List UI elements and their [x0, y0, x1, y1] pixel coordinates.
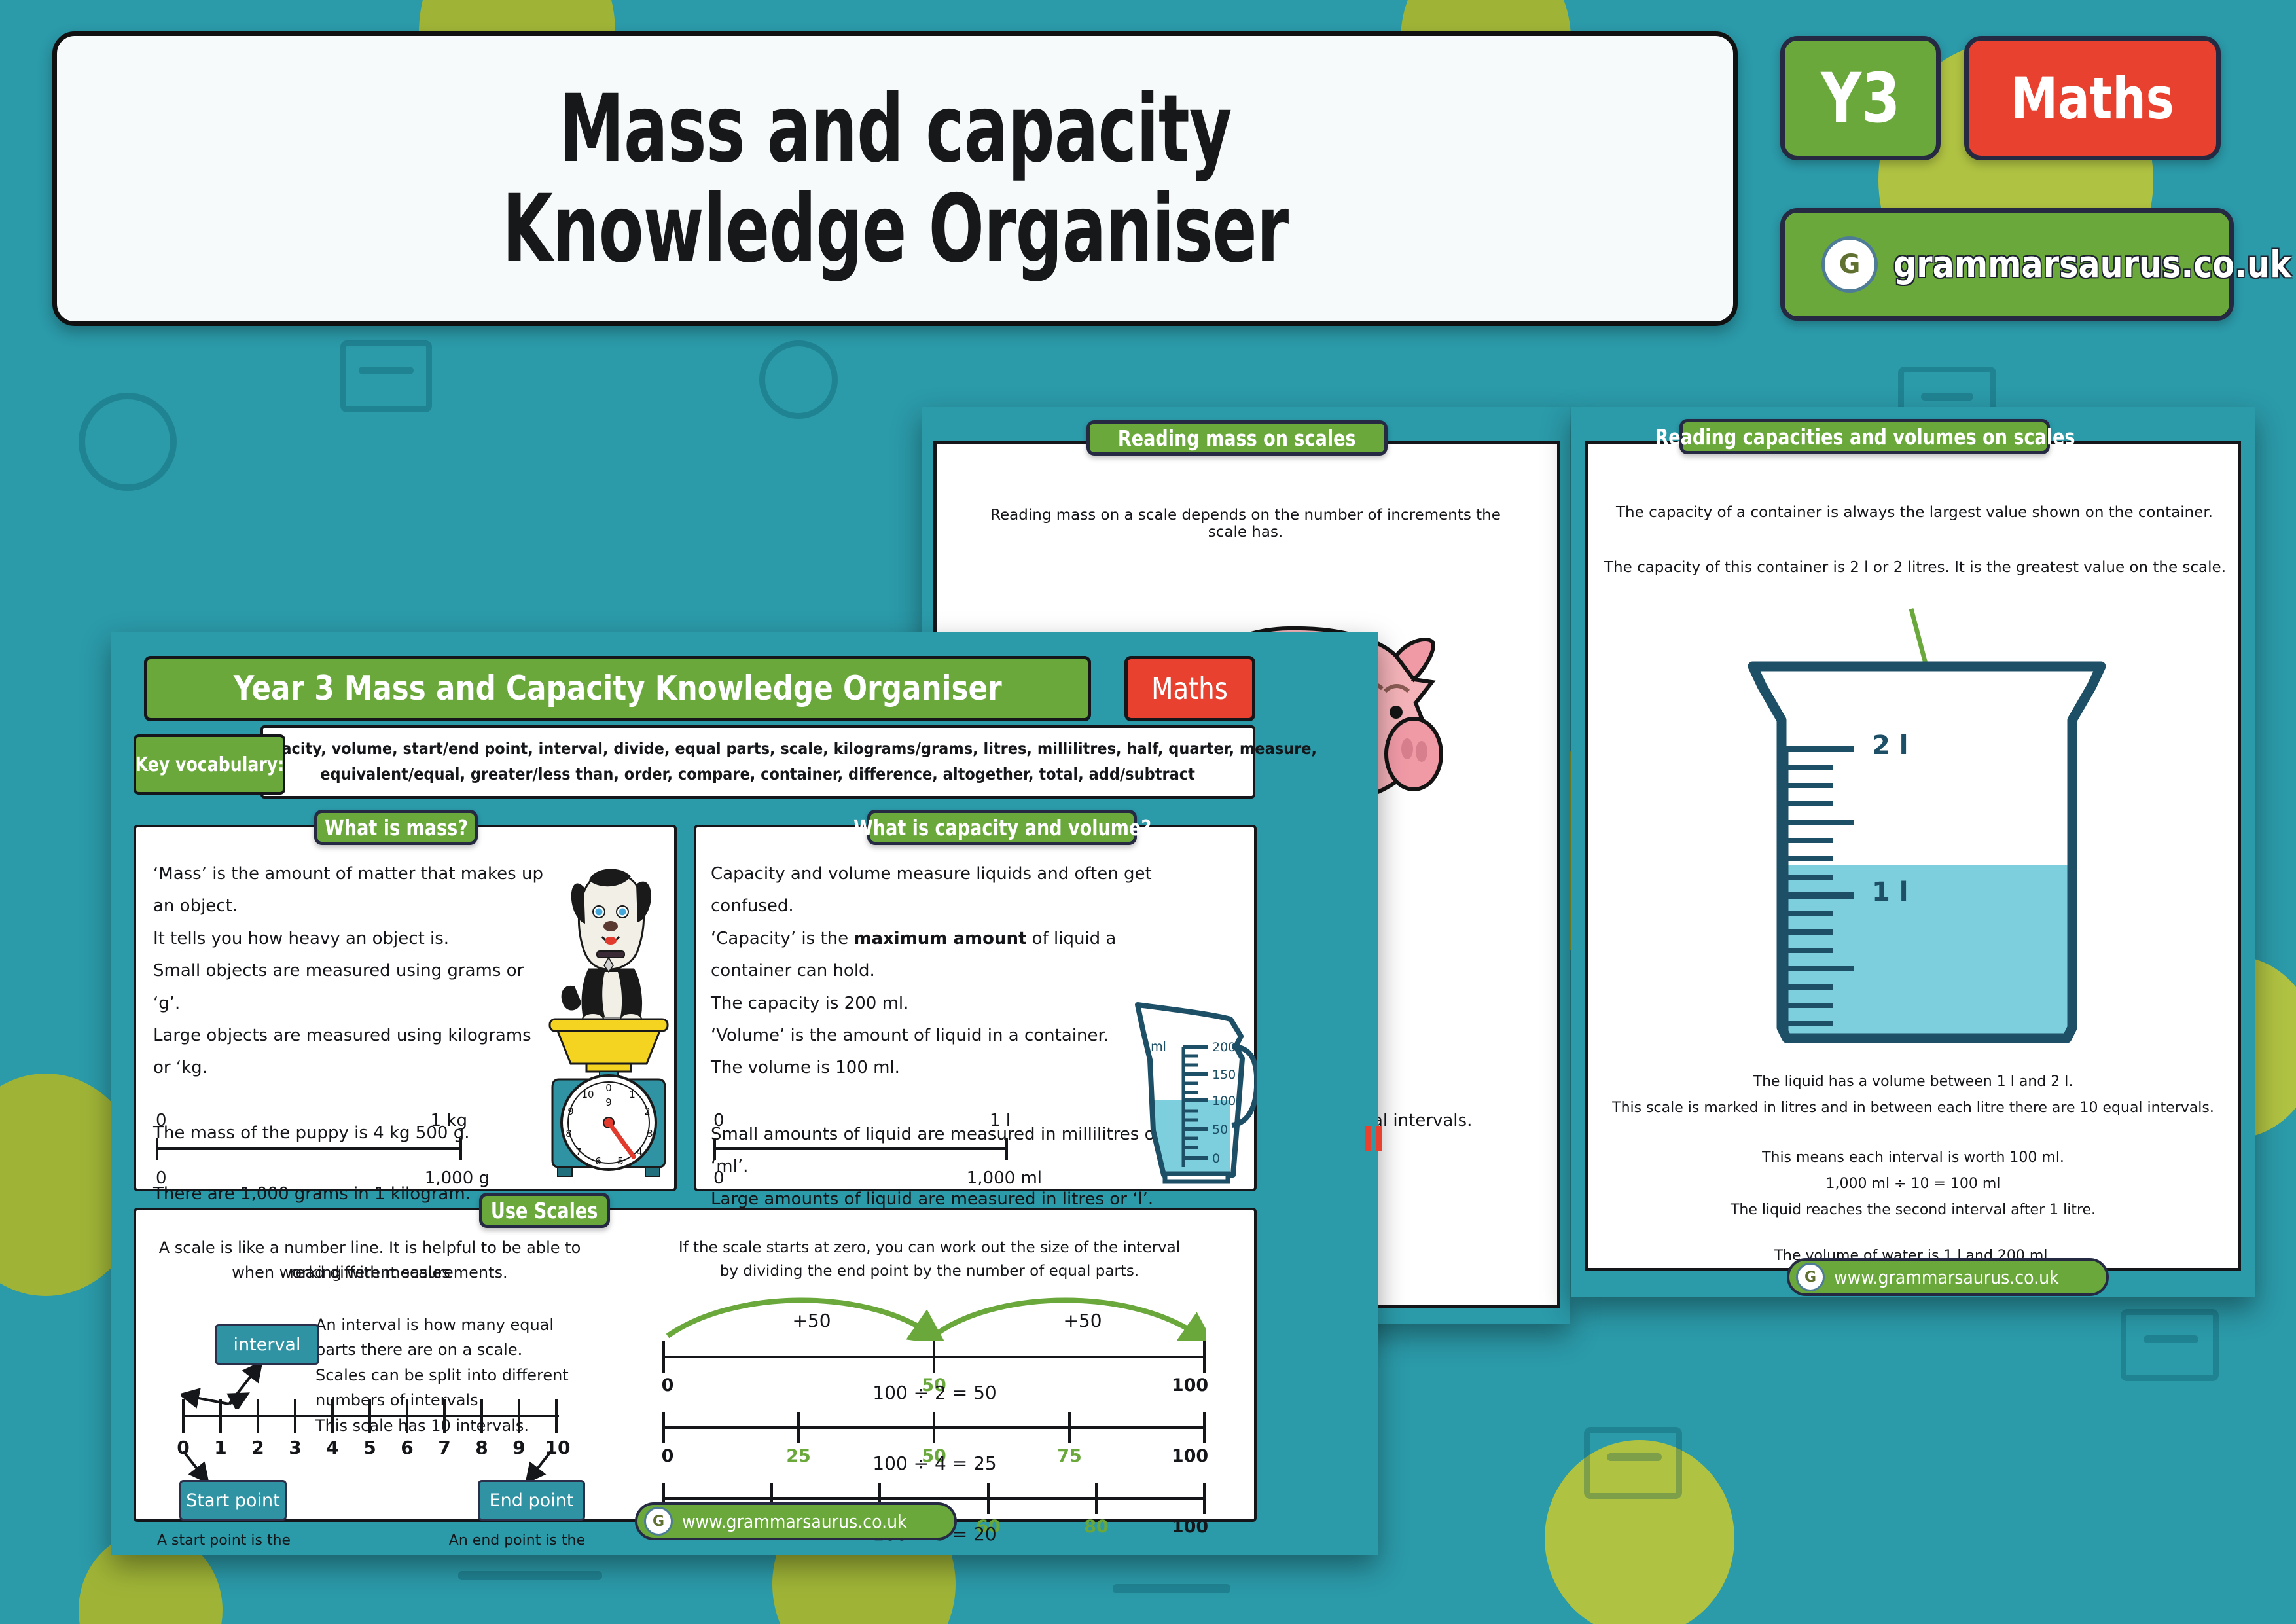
what-is-mass-tab: What is mass?: [314, 810, 478, 845]
svg-text:9: 9: [567, 1106, 574, 1117]
measuring-jug-illustration: ml 200 150 100 50 0: [1132, 996, 1257, 1185]
capacity-card-line-4: This scale is marked in litres and in be…: [1584, 1100, 2242, 1116]
capacity-card-footer-pill[interactable]: G www.grammarsaurus.co.uk: [1787, 1258, 2109, 1296]
capacity-number-line-axis: [713, 1147, 1008, 1150]
equation-quarters: 100 ÷ 4 = 25: [872, 1453, 996, 1474]
jug-tick-100: 100: [1212, 1094, 1236, 1108]
key-vocabulary-line-2: equivalent/equal, greater/less than, ord…: [321, 762, 1196, 787]
svg-text:10: 10: [581, 1089, 594, 1100]
svg-text:ml: ml: [1151, 1039, 1166, 1054]
capacity-line2-part-a: ‘Capacity’ is the: [711, 929, 853, 948]
interval-arrow-icon: [181, 1363, 305, 1409]
subject-badge[interactable]: Maths: [1964, 36, 2221, 160]
interval-callout: interval: [215, 1324, 319, 1365]
capacity-card-line-1: The capacity of a container is always th…: [1610, 504, 2219, 521]
mass-text-line-3: Small objects are measured using grams o…: [153, 955, 546, 1020]
start-point-desc-line-2: number a scale begins with.: [157, 1552, 361, 1555]
capacity-text-line-2: ‘Capacity’ is the maximum amount of liqu…: [711, 923, 1169, 988]
capacity-nl-tick-end: [1005, 1138, 1008, 1160]
year-badge-label: Y3: [1821, 58, 1900, 138]
interval-desc-line-2: Scales can be split into different numbe…: [315, 1363, 590, 1413]
capacity-nl-top-right: 1 l: [990, 1111, 1011, 1130]
site-badge-label: grammarsaurus.co.uk: [1893, 244, 2291, 286]
page-title-card: Mass and capacity Knowledge Organiser: [52, 31, 1738, 326]
quarters-end: 100: [1172, 1446, 1208, 1466]
svg-text:4: 4: [636, 1146, 643, 1158]
capacity-text-line-1: Capacity and volume measure liquids and …: [711, 858, 1169, 923]
capacity-text-line-4: ‘Volume’ is the amount of liquid in a co…: [711, 1020, 1169, 1052]
start-point-desc-line-1: A start point is the: [157, 1530, 291, 1551]
capacity-card-line-7: The liquid reaches the second interval a…: [1597, 1202, 2229, 1218]
capacity-text-line-3: The capacity is 200 ml.: [711, 988, 1169, 1020]
jug-tick-150: 150: [1212, 1068, 1236, 1082]
capacity-card-line-2: The capacity of this container is 2 l or…: [1601, 559, 2229, 576]
svg-text:1: 1: [629, 1089, 636, 1100]
svg-text:6: 6: [595, 1155, 601, 1167]
mass-number-line-tick-start: [156, 1138, 158, 1160]
start-point-arrow-icon: [179, 1449, 219, 1484]
card-reading-capacities-and-volumes[interactable]: Reading capacities and volumes on scales…: [1571, 407, 2255, 1297]
svg-text:2: 2: [644, 1106, 651, 1117]
svg-text:9: 9: [605, 1096, 612, 1108]
badge-row: Y3 Maths: [1780, 36, 2221, 160]
grammarsaurus-logo-icon: G: [1796, 1263, 1825, 1291]
jug-tick-0: 0: [1212, 1151, 1220, 1166]
front-card-footer-url: www.grammarsaurus.co.uk: [682, 1511, 907, 1532]
page-title-line-2: Knowledge Organiser: [502, 179, 1288, 279]
key-vocabulary-box: mass, capacity, volume, start/end point,…: [260, 725, 1255, 799]
end-point-arrow-icon: [517, 1449, 556, 1484]
capacity-text-spacer: [711, 1085, 1169, 1119]
mass-card-tab: Reading mass on scales: [1086, 420, 1388, 456]
card-front-knowledge-organiser[interactable]: Year 3 Mass and Capacity Knowledge Organ…: [111, 632, 1378, 1555]
start-point-callout: Start point: [179, 1480, 287, 1521]
halves-start: 0: [662, 1375, 674, 1396]
jump-arcs-icon: [662, 1289, 1206, 1341]
use-scales-right-intro-line-2: by dividing the end point by the number …: [655, 1257, 1204, 1286]
fifths-80: 80: [1084, 1517, 1109, 1537]
what-is-capacity-tab: What is capacity and volume?: [867, 810, 1137, 845]
front-card-header-title: Year 3 Mass and Capacity Knowledge Organ…: [144, 656, 1091, 721]
capacity-text-line-5: The volume is 100 ml.: [711, 1052, 1169, 1084]
capacity-card-line-5: This means each interval is worth 100 ml…: [1597, 1149, 2229, 1166]
grammarsaurus-logo-icon: G: [644, 1507, 673, 1536]
jug-tick-200: 200: [1212, 1040, 1236, 1055]
grammarsaurus-logo-icon: G: [1821, 236, 1878, 293]
mass-text-line-2: It tells you how heavy an object is.: [153, 923, 546, 955]
capacity-nl-bottom-left: 0: [713, 1168, 725, 1188]
logo-letter: G: [653, 1513, 664, 1530]
use-scales-tab: Use Scales: [479, 1193, 610, 1228]
mass-text-line-5: The mass of the puppy is 4 kg 500 g.: [153, 1117, 546, 1149]
key-vocabulary-label: Key vocabulary:: [134, 734, 285, 795]
fifths-end: 100: [1172, 1517, 1208, 1537]
subject-badge-label: Maths: [2011, 65, 2174, 132]
capacity-bold-phrase: maximum amount: [853, 929, 1026, 948]
svg-text:3: 3: [647, 1128, 653, 1140]
capacity-card-line-3: The liquid has a volume between 1 l and …: [1597, 1074, 2229, 1090]
site-badge[interactable]: G grammarsaurus.co.uk: [1780, 208, 2234, 321]
mass-nl-top-left: 0: [156, 1111, 167, 1130]
mass-nl-top-right: 1 kg: [431, 1111, 467, 1130]
mass-text-spacer-1: [153, 1085, 546, 1117]
seam-marker-2: [1376, 1126, 1382, 1151]
jump-label-1: +50: [792, 1310, 831, 1331]
mass-text-line-4: Large objects are measured using kilogra…: [153, 1020, 546, 1085]
scale-tick-label-8: 8: [475, 1437, 488, 1458]
interval-desc-line-1: An interval is how many equal parts ther…: [315, 1312, 590, 1363]
mass-number-line-tick-end: [459, 1138, 462, 1160]
jug-tick-50: 50: [1212, 1123, 1228, 1137]
jump-label-2: +50: [1063, 1310, 1102, 1331]
use-scales-intro-line-2: when working with measurements.: [157, 1260, 583, 1285]
beaker-top-label: 2 l: [1872, 731, 1908, 761]
mass-number-line-axis: [156, 1147, 462, 1150]
svg-text:0: 0: [605, 1082, 612, 1094]
capacity-text-line-6: Small amounts of liquid are measured in …: [711, 1119, 1169, 1183]
quarters-25: 25: [786, 1446, 811, 1466]
puppy-on-scale-illustration: 012 345 678 910 9: [543, 841, 674, 1182]
quarters-75: 75: [1057, 1446, 1082, 1466]
page-title-line-1: Mass and capacity: [559, 79, 1231, 179]
front-card-footer-pill[interactable]: G www.grammarsaurus.co.uk: [635, 1502, 957, 1540]
front-card-header-subject: Maths: [1124, 656, 1255, 721]
quarters-start: 0: [662, 1446, 674, 1466]
svg-text:7: 7: [575, 1146, 582, 1158]
svg-text:5: 5: [617, 1155, 624, 1167]
capacity-card-footer-url: www.grammarsaurus.co.uk: [1834, 1267, 2059, 1288]
scale-tick-label-5: 5: [363, 1437, 376, 1458]
key-vocabulary-line-1: mass, capacity, volume, start/end point,…: [199, 736, 1317, 762]
end-point-desc-line-2: number a scale ends with.: [406, 1552, 585, 1555]
capacity-card-tab: Reading capacities and volumes on scales: [1679, 419, 2050, 454]
equation-halves: 100 ÷ 2 = 50: [872, 1382, 996, 1403]
beaker-mid-label: 1 l: [1872, 877, 1908, 907]
seam-marker-1: [1365, 1126, 1371, 1151]
mass-nl-bottom-left: 0: [156, 1168, 167, 1188]
mass-text-line-1: ‘Mass’ is the amount of matter that make…: [153, 858, 546, 923]
halves-end: 100: [1172, 1375, 1208, 1396]
svg-text:8: 8: [565, 1128, 572, 1140]
beaker-illustration: 2 l 1 l: [1708, 657, 2140, 1056]
end-point-desc-line-1: An end point is the: [419, 1530, 585, 1551]
capacity-nl-bottom-right: 1,000 ml: [967, 1168, 1042, 1188]
year-badge[interactable]: Y3: [1780, 36, 1941, 160]
capacity-nl-top-left: 0: [713, 1111, 725, 1130]
fifths-axis: [662, 1497, 1206, 1500]
capacity-nl-tick-start: [713, 1138, 716, 1160]
mass-nl-bottom-right: 1,000 g: [425, 1168, 490, 1188]
end-point-callout: End point: [478, 1480, 585, 1521]
scale-tick-label-3: 3: [289, 1437, 301, 1458]
scale-tick-label-6: 6: [401, 1437, 413, 1458]
logo-letter: G: [1839, 249, 1861, 280]
scale-tick-label-2: 2: [251, 1437, 264, 1458]
scale-tick-label-4: 4: [326, 1437, 338, 1458]
mass-card-line-1: Reading mass on a scale depends on the n…: [974, 507, 1517, 541]
scale-tick-label-7: 7: [438, 1437, 450, 1458]
capacity-card-line-6: 1,000 ml ÷ 10 = 100 ml: [1597, 1176, 2229, 1192]
logo-letter: G: [1804, 1269, 1816, 1286]
